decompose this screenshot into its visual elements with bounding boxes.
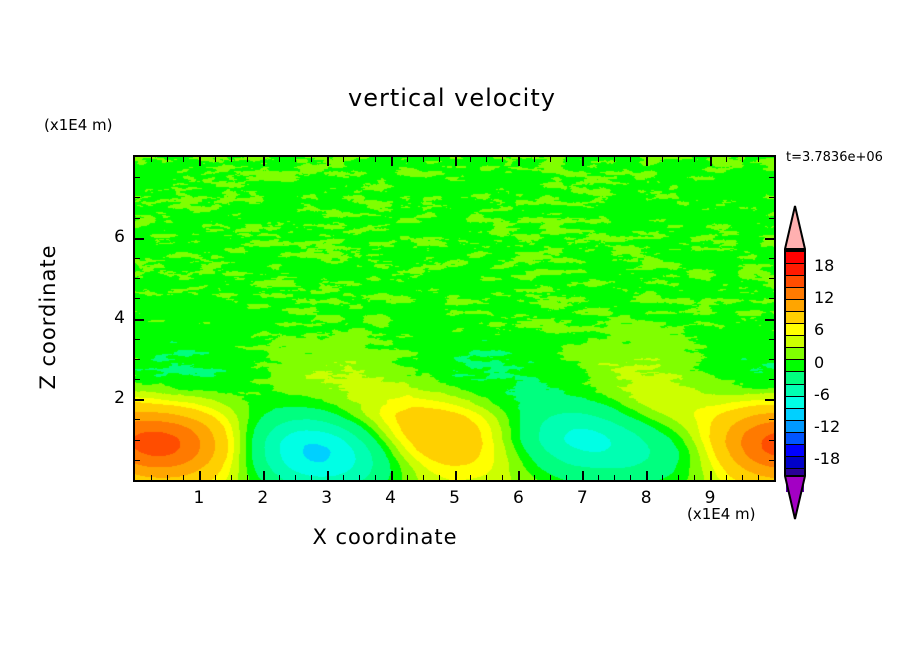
- colorbar-tick-label: -12: [814, 417, 840, 436]
- colorbar-band: [786, 348, 804, 360]
- y-tick-label: 4: [95, 308, 125, 328]
- colorbar-band: [786, 457, 804, 469]
- colorbar-tick-label: 18: [814, 256, 834, 275]
- colorbar-over-arrow-icon: [784, 205, 806, 250]
- colorbar-tick-label: 6: [814, 320, 824, 339]
- colorbar-band: [786, 372, 804, 384]
- page-title: vertical velocity: [0, 84, 904, 112]
- colorbar-bands: [784, 250, 806, 475]
- colorbar-tick-label: -18: [814, 449, 840, 468]
- colorbar-band: [786, 445, 804, 457]
- colorbar-tick-label: 0: [814, 353, 824, 372]
- x-tick-label: 3: [312, 488, 342, 508]
- colorbar-band: [786, 324, 804, 336]
- colorbar-band: [786, 276, 804, 288]
- x-tick-label: 8: [631, 488, 661, 508]
- x-tick-label: 4: [376, 488, 406, 508]
- y-tick-label: 2: [95, 388, 125, 408]
- colorbar-tick-label: 12: [814, 288, 834, 307]
- x-tick-label: 6: [503, 488, 533, 508]
- colorbar[interactable]: 181260-6-12-18: [780, 205, 904, 520]
- colorbar-band: [786, 312, 804, 324]
- x-axis-unit-label: (x1E4 m): [687, 505, 756, 523]
- timestamp-label: t=3.7836e+06: [786, 150, 883, 165]
- colorbar-tick-label: -6: [814, 385, 830, 404]
- y-tick-label: 6: [95, 227, 125, 247]
- colorbar-band: [786, 397, 804, 409]
- contour-field-canvas: [135, 157, 774, 480]
- colorbar-band: [786, 300, 804, 312]
- colorbar-band: [786, 433, 804, 445]
- y-axis-title: Z coordinate: [36, 207, 60, 427]
- contour-plot-area[interactable]: [133, 155, 776, 482]
- colorbar-band: [786, 409, 804, 421]
- colorbar-band: [786, 288, 804, 300]
- colorbar-band: [786, 336, 804, 348]
- z-axis-unit-label: (x1E4 m): [44, 116, 113, 134]
- x-tick-label: 1: [184, 488, 214, 508]
- colorbar-band: [786, 252, 804, 264]
- colorbar-band: [786, 360, 804, 372]
- colorbar-band: [786, 264, 804, 276]
- x-tick-label: 7: [567, 488, 597, 508]
- colorbar-band: [786, 385, 804, 397]
- x-tick-label: 5: [440, 488, 470, 508]
- x-tick-label: 2: [248, 488, 278, 508]
- colorbar-under-arrow-icon: [784, 475, 806, 520]
- x-axis-title: X coordinate: [0, 525, 770, 549]
- colorbar-band: [786, 421, 804, 433]
